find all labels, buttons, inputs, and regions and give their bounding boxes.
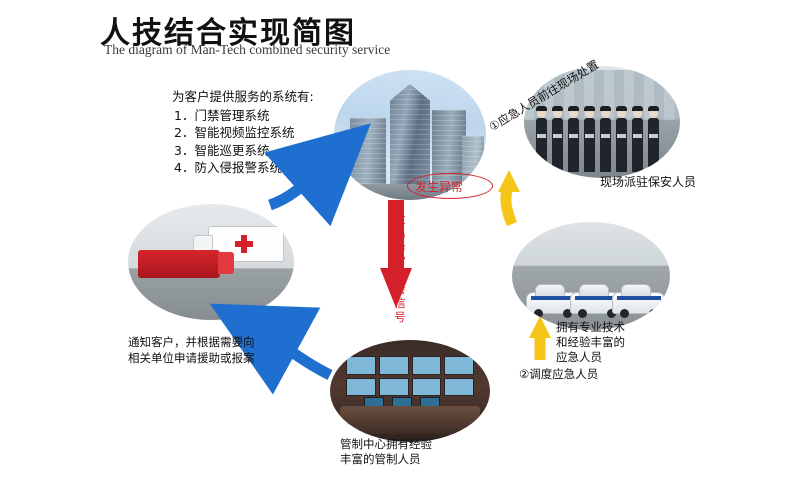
control-room-photo-art (330, 340, 490, 442)
service-systems-list: 为客户提供服务的系统有: 1．门禁管理系统 2．智能视频监控系统 3．智能巡更系… (172, 88, 314, 177)
page-subtitle: The diagram of Man-Tech combined securit… (104, 42, 390, 58)
tower-main (390, 84, 430, 188)
control-center-caption: 管制中心拥有经验 丰富的管制人员 (340, 437, 432, 467)
guard-figure (584, 118, 595, 172)
guard-figure (568, 118, 579, 172)
vehicles-caption: 通知客户，并根据需要向 相关单位申请援助或报案 (128, 334, 255, 366)
service-systems-items: 1．门禁管理系统 2．智能视频监控系统 3．智能巡更系统 4．防入侵报警系统等 (172, 107, 314, 177)
service-systems-heading: 为客户提供服务的系统有: (172, 88, 314, 106)
list-item: 1．门禁管理系统 (174, 107, 314, 125)
police-cars-photo-art (512, 222, 670, 330)
guard-figure (552, 118, 563, 172)
guard-figure (616, 118, 627, 172)
list-item: 4．防入侵报警系统等 (174, 159, 314, 177)
video-wall (346, 356, 474, 396)
list-item: 3．智能巡更系统 (174, 142, 314, 160)
police-cars-photo (512, 222, 670, 330)
guards-caption: 现场派驻保安人员 (600, 174, 696, 190)
alarm-signal-label: 发出异常报警信号 (392, 212, 408, 324)
tower-left (350, 118, 386, 190)
arrow-control-to-vehicles (258, 330, 330, 375)
list-item: 2．智能视频监控系统 (174, 124, 314, 142)
arrow-responders-head (498, 170, 520, 192)
arrow-responders-to-site (506, 186, 512, 224)
guard-figure (536, 118, 547, 172)
abnormal-event-label: 发生异常 (415, 178, 463, 195)
guard-figure (632, 118, 643, 172)
emergency-vehicles-photo (128, 204, 294, 320)
responders-caption: 拥有专业技术 和经验丰富的 应急人员 (556, 320, 625, 365)
fire-truck (138, 250, 220, 278)
diagram-canvas: 人技结合实现简图 The diagram of Man-Tech combine… (0, 0, 802, 477)
guard-figure (600, 118, 611, 172)
emergency-vehicles-photo-art (128, 204, 294, 320)
operator-desk (340, 406, 480, 434)
control-room-photo (330, 340, 490, 442)
patrol-car (612, 292, 666, 314)
step2-label: ②调度应急人员 (519, 366, 598, 382)
guard-figure (648, 118, 659, 172)
